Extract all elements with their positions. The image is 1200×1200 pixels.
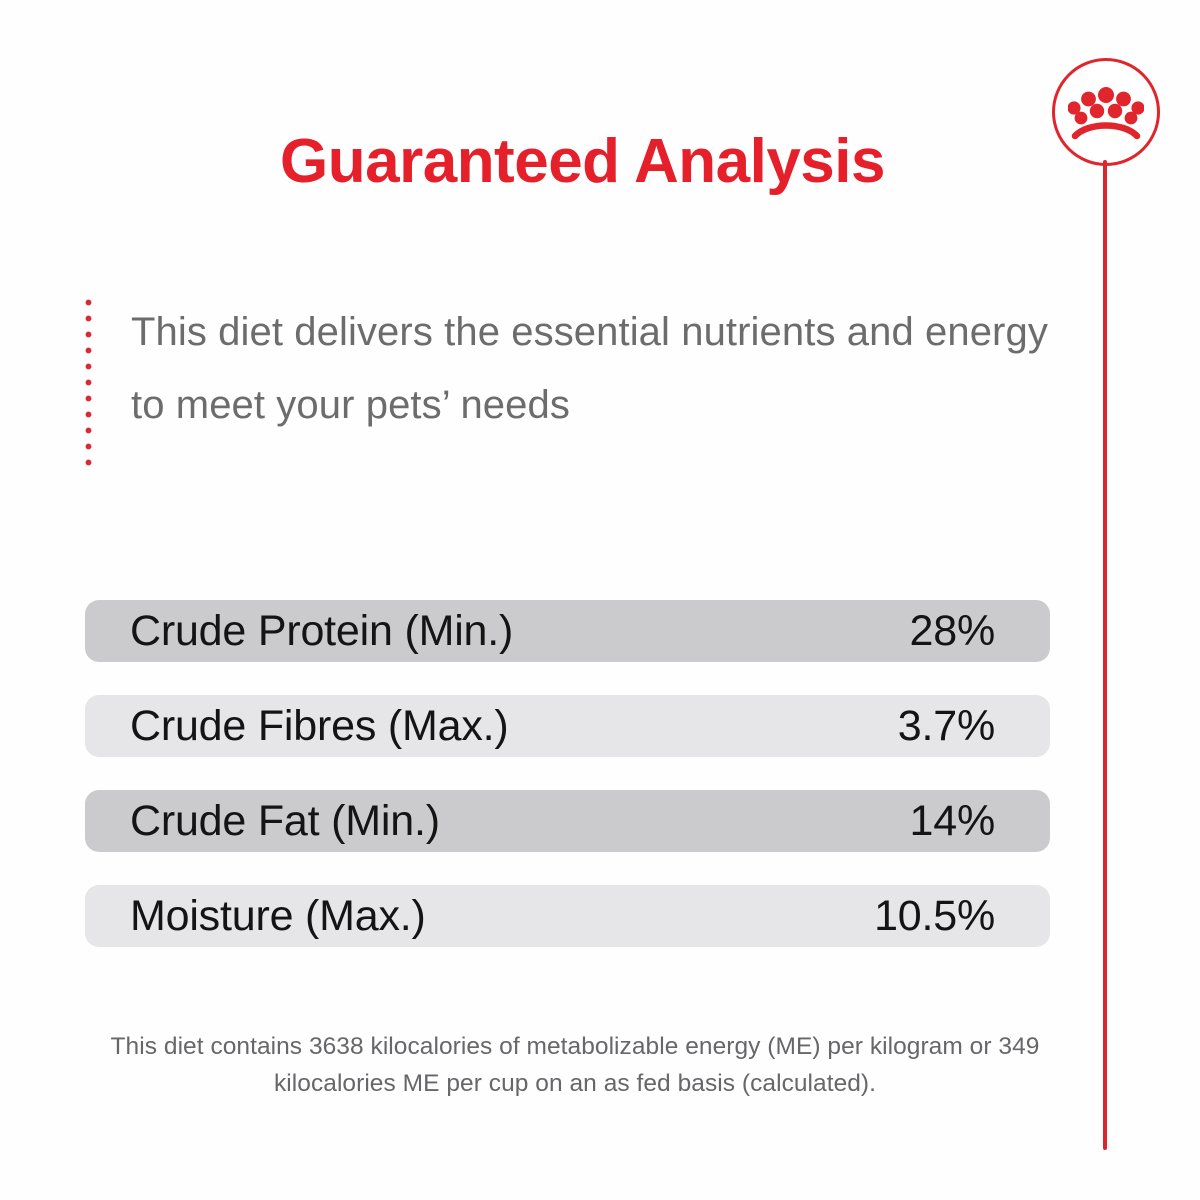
nutrient-value: 28%	[910, 610, 995, 653]
page-title: Guaranteed Analysis	[0, 131, 1165, 193]
table-row: Crude Fibres (Max.) 3.7%	[85, 695, 1050, 757]
table-row: Crude Protein (Min.) 28%	[85, 600, 1050, 662]
brand-vertical-rule	[1103, 160, 1107, 1150]
guaranteed-analysis-panel: Guaranteed Analysis This diet delivers t…	[0, 0, 1200, 1200]
table-row: Moisture (Max.) 10.5%	[85, 885, 1050, 947]
nutrient-value: 3.7%	[898, 705, 995, 748]
nutrient-label: Crude Fibres (Max.)	[130, 705, 509, 748]
nutrient-label: Crude Protein (Min.)	[130, 610, 513, 653]
nutrient-label: Crude Fat (Min.)	[130, 800, 440, 843]
dotted-vertical-line-icon	[85, 299, 92, 471]
intro-text: This diet delivers the essential nutrien…	[131, 296, 1061, 442]
nutrient-value: 10.5%	[874, 895, 995, 938]
table-row: Crude Fat (Min.) 14%	[85, 790, 1050, 852]
guaranteed-analysis-table: Crude Protein (Min.) 28% Crude Fibres (M…	[85, 600, 1050, 947]
intro-block: This diet delivers the essential nutrien…	[85, 296, 1065, 471]
calorie-footnote: This diet contains 3638 kilocalories of …	[100, 1028, 1050, 1102]
nutrient-label: Moisture (Max.)	[130, 895, 426, 938]
nutrient-value: 14%	[910, 800, 995, 843]
